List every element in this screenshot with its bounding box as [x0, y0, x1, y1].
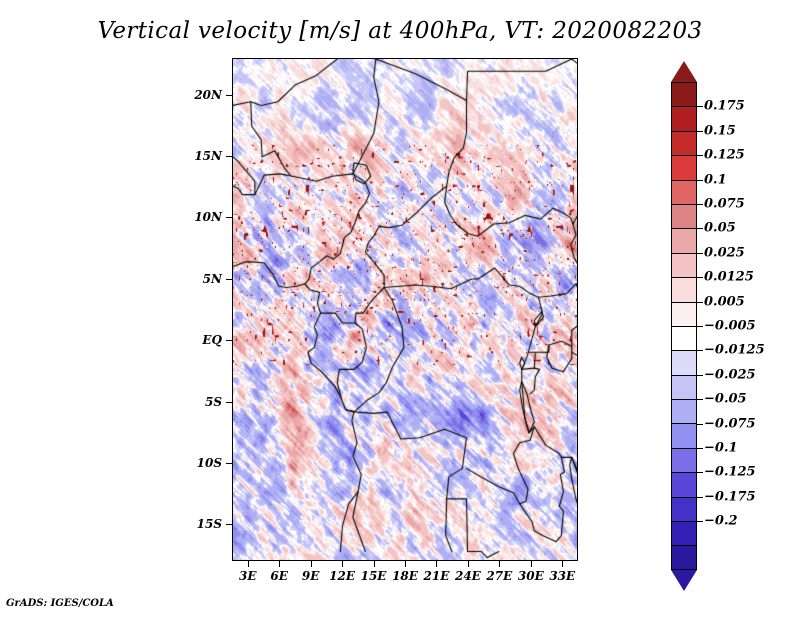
- y-axis-tick: [226, 340, 232, 341]
- x-axis-label-24e: 24E: [455, 569, 481, 583]
- page-title: Vertical velocity [m/s] at 400hPa, VT: 2…: [0, 18, 800, 44]
- colorbar-stack: [671, 82, 697, 570]
- x-axis-label-12e: 12E: [329, 569, 355, 583]
- colorbar-band: [671, 326, 697, 350]
- colorbar-band: [671, 521, 697, 545]
- colorbar-tick: [697, 424, 703, 425]
- y-axis-label-5n: 5N: [186, 272, 222, 286]
- colorbar-label: −0.05: [704, 392, 747, 407]
- x-axis-label-30e: 30E: [518, 569, 544, 583]
- y-axis-label-5s: 5S: [186, 395, 222, 409]
- y-axis-tick: [226, 463, 232, 464]
- colorbar-label: −0.025: [704, 367, 756, 382]
- colorbar-band: [671, 497, 697, 521]
- x-axis-tick: [279, 561, 280, 567]
- colorbar-tick: [697, 131, 703, 132]
- grads-attribution: GrADS: IGES/COLA: [6, 598, 114, 609]
- x-axis-tick: [436, 561, 437, 567]
- colorbar-band: [671, 545, 697, 569]
- colorbar-label: 0.05: [704, 221, 736, 236]
- colorbar-tick: [697, 448, 703, 449]
- x-axis-tick: [405, 561, 406, 567]
- colorbar-label: −0.075: [704, 416, 756, 431]
- x-axis-tick: [342, 561, 343, 567]
- colorbar-band: [671, 448, 697, 472]
- colorbar-label: −0.1: [704, 441, 738, 456]
- x-axis-tick: [562, 561, 563, 567]
- colorbar-tick: [697, 326, 703, 327]
- x-axis-label-18e: 18E: [392, 569, 418, 583]
- y-axis-tick: [226, 402, 232, 403]
- colorbar-tick: [697, 204, 703, 205]
- colorbar-band: [671, 399, 697, 423]
- colorbar-label: −0.0125: [704, 343, 765, 358]
- x-axis-label-27e: 27E: [486, 569, 512, 583]
- x-axis-label-21e: 21E: [424, 569, 450, 583]
- x-axis-label-6e: 6E: [270, 569, 288, 583]
- colorbar-tick: [697, 375, 703, 376]
- colorbar-band: [671, 131, 697, 155]
- y-axis-tick: [226, 95, 232, 96]
- x-axis-tick: [374, 561, 375, 567]
- colorbar-label: 0.125: [704, 148, 745, 163]
- y-axis-tick: [226, 279, 232, 280]
- colorbar-band: [671, 253, 697, 277]
- x-axis-label-15e: 15E: [361, 569, 387, 583]
- colorbar-label: 0.15: [704, 123, 736, 138]
- colorbar-label: −0.175: [704, 489, 756, 504]
- x-axis-tick: [468, 561, 469, 567]
- x-axis-label-9e: 9E: [302, 569, 320, 583]
- y-axis-tick: [226, 524, 232, 525]
- x-axis-tick: [531, 561, 532, 567]
- colorbar-arrow-bottom: [671, 570, 697, 591]
- y-axis-label-20n: 20N: [186, 88, 222, 102]
- colorbar-tick: [697, 106, 703, 107]
- colorbar-band: [671, 106, 697, 130]
- colorbar-tick: [697, 472, 703, 473]
- colorbar-tick: [697, 228, 703, 229]
- colorbar-label: 0.005: [704, 294, 745, 309]
- colorbar-band: [671, 302, 697, 326]
- colorbar-tick: [697, 277, 703, 278]
- colorbar-band: [671, 472, 697, 496]
- y-axis-label-10n: 10N: [186, 210, 222, 224]
- x-axis-tick: [499, 561, 500, 567]
- y-axis-tick: [226, 156, 232, 157]
- x-axis-label-3e: 3E: [239, 569, 257, 583]
- colorbar-band: [671, 277, 697, 301]
- colorbar-band: [671, 155, 697, 179]
- colorbar-label: 0.175: [704, 99, 745, 114]
- colorbar-band: [671, 82, 697, 106]
- colorbar-band: [671, 375, 697, 399]
- vertical-velocity-field: [233, 59, 577, 560]
- colorbar-band: [671, 180, 697, 204]
- colorbar[interactable]: 0.1750.150.1250.10.0750.050.0250.01250.0…: [668, 58, 798, 558]
- colorbar-arrow-top: [671, 61, 697, 82]
- y-axis-label-15s: 15S: [186, 517, 222, 531]
- x-axis-tick: [248, 561, 249, 567]
- colorbar-label: −0.125: [704, 465, 756, 480]
- y-axis-tick: [226, 217, 232, 218]
- colorbar-tick: [697, 180, 703, 181]
- y-axis-label-eq: EQ: [186, 333, 222, 347]
- colorbar-band: [671, 423, 697, 447]
- colorbar-label: −0.005: [704, 319, 756, 334]
- x-axis-label-33e: 33E: [549, 569, 575, 583]
- colorbar-tick: [697, 155, 703, 156]
- colorbar-tick: [697, 399, 703, 400]
- map-plot-area[interactable]: [232, 58, 578, 561]
- x-axis-tick: [311, 561, 312, 567]
- y-axis-label-10s: 10S: [186, 456, 222, 470]
- colorbar-tick: [697, 497, 703, 498]
- colorbar-band: [671, 350, 697, 374]
- colorbar-label: 0.1: [704, 172, 727, 187]
- colorbar-label: 0.0125: [704, 270, 754, 285]
- colorbar-tick: [697, 302, 703, 303]
- colorbar-tick: [697, 350, 703, 351]
- colorbar-band: [671, 228, 697, 252]
- colorbar-label: 0.075: [704, 197, 745, 212]
- colorbar-band: [671, 204, 697, 228]
- y-axis-label-15n: 15N: [186, 149, 222, 163]
- colorbar-label: 0.025: [704, 245, 745, 260]
- colorbar-label: −0.2: [704, 514, 738, 529]
- colorbar-tick: [697, 253, 703, 254]
- colorbar-tick: [697, 521, 703, 522]
